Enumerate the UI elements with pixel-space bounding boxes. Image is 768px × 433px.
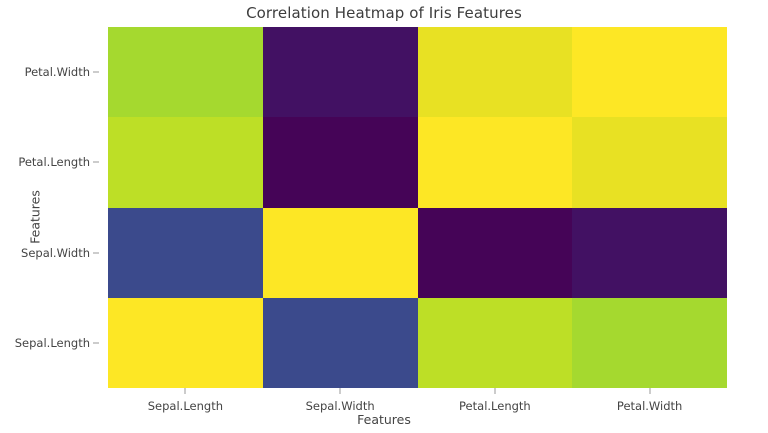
x-tick-label: Petal.Length: [459, 399, 531, 413]
y-tick-mark: [93, 72, 99, 73]
y-tick-label: Petal.Length: [18, 155, 90, 169]
x-tick-mark: [649, 388, 650, 394]
heatmap-cell[interactable]: [572, 298, 727, 388]
y-tick-label: Sepal.Length: [15, 336, 90, 350]
heatmap-cell[interactable]: [108, 27, 263, 117]
y-tick-label: Sepal.Width: [21, 246, 90, 260]
y-tick-label: Petal.Width: [25, 65, 90, 79]
heatmap-cell[interactable]: [572, 208, 727, 298]
x-tick-label: Sepal.Width: [306, 399, 375, 413]
heatmap-cell[interactable]: [418, 27, 573, 117]
y-tick-mark: [93, 342, 99, 343]
y-tick-mark: [93, 252, 99, 253]
heatmap-cell[interactable]: [108, 298, 263, 388]
y-tick-mark: [93, 162, 99, 163]
x-tick-label: Sepal.Length: [148, 399, 223, 413]
y-axis-tick-group: Petal.WidthPetal.LengthSepal.WidthSepal.…: [0, 27, 99, 388]
heatmap-cell[interactable]: [263, 298, 418, 388]
heatmap-cell[interactable]: [418, 117, 573, 207]
heatmap-cell[interactable]: [108, 208, 263, 298]
x-tick-mark: [494, 388, 495, 394]
heatmap-cell[interactable]: [108, 117, 263, 207]
x-axis-title: Features: [0, 412, 768, 427]
plot-area[interactable]: [108, 27, 727, 388]
chart-title: Correlation Heatmap of Iris Features: [0, 4, 768, 22]
x-tick-mark: [185, 388, 186, 394]
heatmap-grid: [108, 27, 727, 388]
heatmap-cell[interactable]: [572, 27, 727, 117]
heatmap-cell[interactable]: [572, 117, 727, 207]
x-axis-tick-group: Sepal.LengthSepal.WidthPetal.LengthPetal…: [108, 388, 727, 414]
heatmap-cell[interactable]: [263, 117, 418, 207]
heatmap-cell[interactable]: [263, 27, 418, 117]
heatmap-figure: Correlation Heatmap of Iris Features Fea…: [0, 0, 768, 433]
x-tick-label: Petal.Width: [617, 399, 682, 413]
heatmap-cell[interactable]: [418, 208, 573, 298]
x-tick-mark: [340, 388, 341, 394]
heatmap-cell[interactable]: [263, 208, 418, 298]
heatmap-cell[interactable]: [418, 298, 573, 388]
